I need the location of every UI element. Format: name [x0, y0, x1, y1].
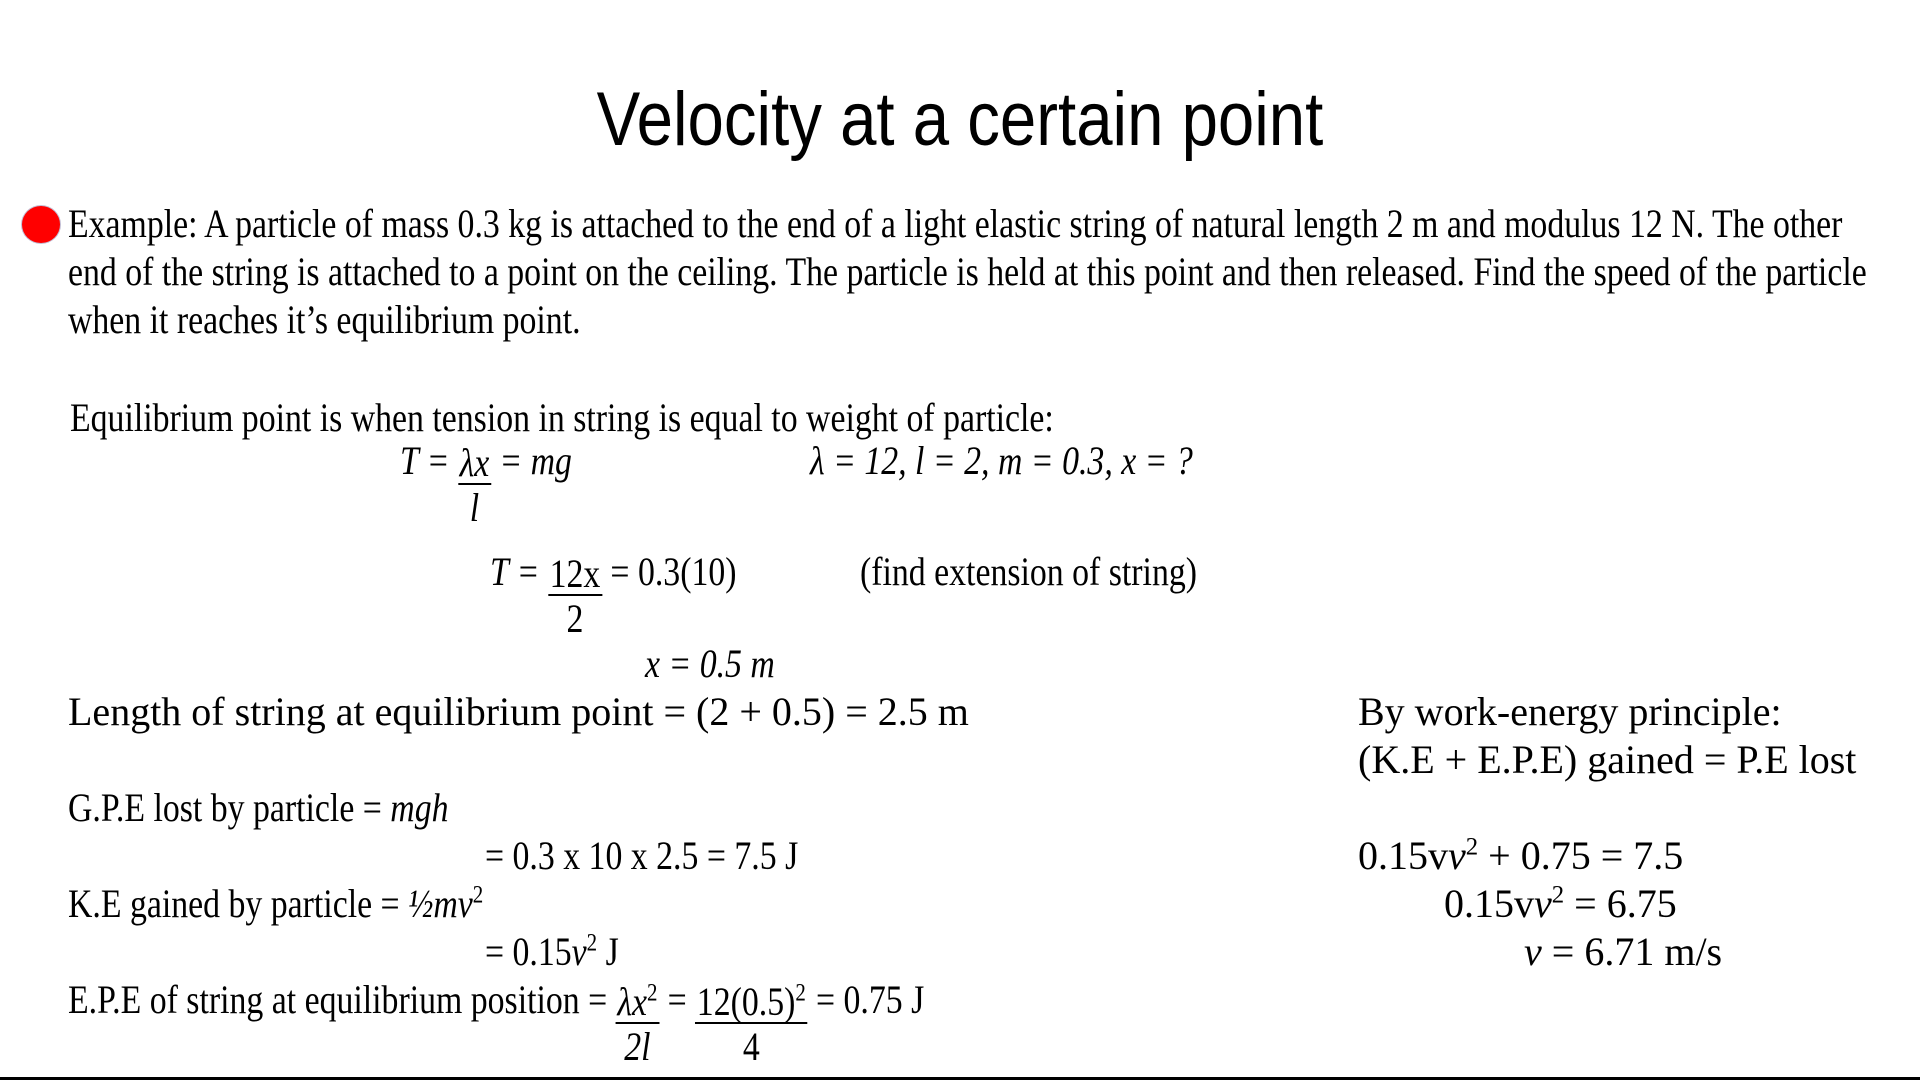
eq-line1-suffix: + 0.75 = 7.5 — [1478, 833, 1683, 878]
velocity-value: = 6.71 m/s — [1542, 929, 1722, 974]
ke-gained-line: K.E gained by particle = ½mv2 — [68, 880, 483, 927]
gpe-lost-formula: mgh — [390, 785, 448, 830]
equation-tension-lambda: T = λxl = mg — [400, 437, 572, 486]
eq-line1-exponent: 2 — [1466, 834, 1478, 861]
ke-value-unit: J — [597, 929, 619, 974]
gpe-value-line: = 0.3 x 10 x 2.5 = 7.5 J — [485, 832, 798, 879]
slide-canvas: Velocity at a certain point Example: A p… — [0, 0, 1920, 1080]
epe-equals: = — [659, 977, 695, 1022]
gpe-lost-line: G.P.E lost by particle = mgh — [68, 784, 449, 831]
eq2-denominator: 2 — [548, 596, 602, 640]
epe-line: E.P.E of string at equilibrium position … — [68, 976, 924, 1025]
eq1-numerator: λx — [458, 443, 491, 485]
equation-note-extension: (find extension of string) — [860, 548, 1197, 595]
ke-value-variable: v — [572, 929, 587, 974]
energy-equation-line-1: 0.15vv2 + 0.75 = 7.5 — [1358, 832, 1683, 879]
eq2-fraction: 12x2 — [548, 550, 602, 597]
velocity-result-line: v = 6.71 m/s — [1524, 928, 1722, 975]
gpe-lost-label: G.P.E lost by particle = — [68, 785, 390, 830]
eq2-lhs: T = — [490, 549, 548, 594]
energy-equation-line-2: 0.15vv2 = 6.75 — [1444, 880, 1677, 927]
x-result-text: x = 0.5 m — [645, 641, 775, 686]
epe-fraction-2: 12(0.5)24 — [695, 978, 807, 1025]
eq-line2-prefix: 0.15v — [1444, 881, 1534, 926]
equilibrium-intro-line: Equilibrium point is when tension in str… — [70, 394, 1054, 441]
eq2-rhs: = 0.3(10) — [602, 549, 737, 594]
eq-line2-exponent: 2 — [1552, 882, 1564, 909]
equation-substituted: T = 12x2 = 0.3(10) — [490, 548, 737, 597]
epe-denominator-1: 2l — [616, 1024, 660, 1068]
example-paragraph: Example: A particle of mass 0.3 kg is at… — [68, 200, 1885, 344]
eq-line2-variable: v — [1534, 881, 1552, 926]
length-of-string-line: Length of string at equilibrium point = … — [68, 688, 969, 735]
ke-gained-exponent: 2 — [473, 882, 483, 909]
equation-known-values: λ = 12, l = 2, m = 0.3, x = ? — [810, 437, 1193, 484]
ke-value-prefix: = 0.15 — [485, 929, 572, 974]
epe-numerator-2: 12(0.5)2 — [695, 982, 807, 1024]
work-energy-principle-heading: By work-energy principle: — [1358, 688, 1782, 735]
epe-fraction-1: λx22l — [616, 978, 660, 1025]
epe-denominator-2: 4 — [695, 1024, 807, 1068]
velocity-variable: v — [1524, 929, 1542, 974]
eq-line2-suffix: = 6.75 — [1564, 881, 1677, 926]
ke-gained-label: K.E gained by particle = — [68, 881, 408, 926]
eq1-fraction: λxl — [458, 439, 491, 486]
eq-line1-variable: v — [1448, 833, 1466, 878]
page-title: Velocity at a certain point — [134, 78, 1785, 162]
epe-result: = 0.75 J — [808, 977, 925, 1022]
work-energy-relation: (K.E + E.P.E) gained = P.E lost — [1358, 736, 1856, 783]
bullet-marker-icon — [22, 206, 60, 243]
x-result-line: x = 0.5 m — [645, 640, 775, 687]
eq1-values-text: λ = 12, l = 2, m = 0.3, x = ? — [810, 438, 1193, 483]
eq1-lhs: T = — [400, 438, 458, 483]
ke-value-line: = 0.15v2 J — [485, 928, 619, 975]
eq2-numerator: 12x — [548, 554, 602, 596]
eq-line1-prefix: 0.15v — [1358, 833, 1448, 878]
ke-gained-formula: ½mv — [408, 881, 473, 926]
ke-value-exponent: 2 — [587, 930, 597, 957]
eq1-denominator: l — [458, 485, 491, 529]
epe-label: E.P.E of string at equilibrium position … — [68, 977, 616, 1022]
eq1-rhs: = mg — [491, 438, 572, 483]
epe-numerator-1: λx2 — [616, 982, 660, 1024]
